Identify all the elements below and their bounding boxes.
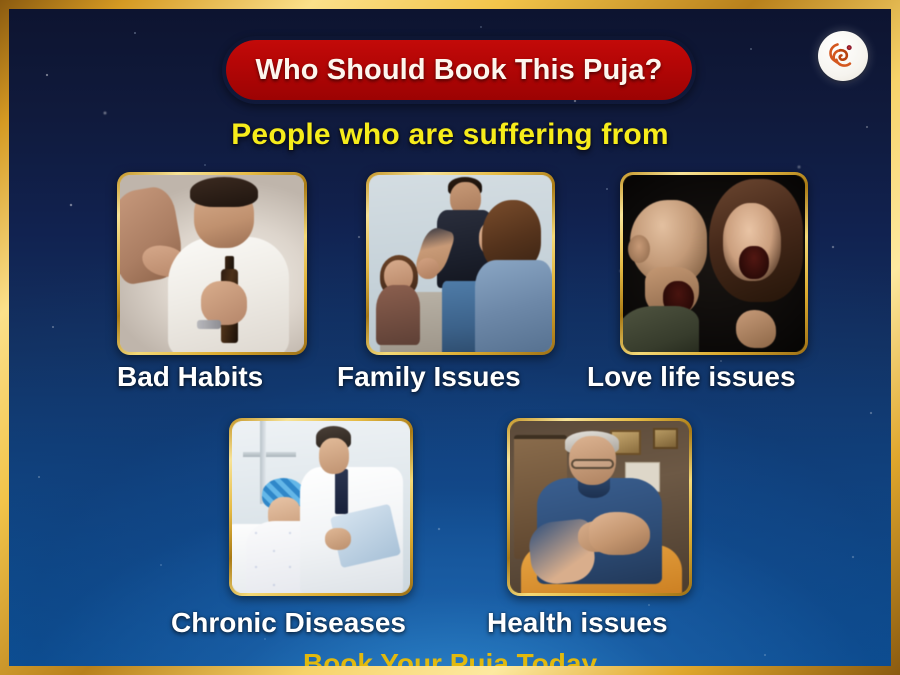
card-label-love-life-issues: Love life issues <box>587 361 796 393</box>
poster-frame: Who Should Book This Puja? People who ar… <box>0 0 900 675</box>
image-chronic-diseases <box>232 421 410 593</box>
image-family-issues <box>369 175 552 352</box>
page-title: Who Should Book This Puja? <box>256 54 663 87</box>
bottom-clipped-headline: Book Your Puja Today <box>9 648 891 666</box>
card-chronic-diseases[interactable] <box>229 418 413 596</box>
poster-background: Who Should Book This Puja? People who ar… <box>9 9 891 666</box>
ganesha-om-logo-icon[interactable] <box>818 31 868 81</box>
card-label-health-issues: Health issues <box>487 607 668 639</box>
subtitle-text: People who are suffering from <box>9 118 891 152</box>
card-health-issues[interactable] <box>507 418 692 596</box>
card-love-life-issues[interactable] <box>620 172 808 355</box>
title-banner: Who Should Book This Puja? <box>222 36 696 104</box>
card-label-family-issues: Family Issues <box>337 361 521 393</box>
image-bad-habits <box>120 175 304 352</box>
card-label-bad-habits: Bad Habits <box>117 361 263 393</box>
card-family-issues[interactable] <box>366 172 555 355</box>
image-love-life-issues <box>623 175 805 352</box>
image-health-issues <box>510 421 689 593</box>
card-bad-habits[interactable] <box>117 172 307 355</box>
card-label-chronic-diseases: Chronic Diseases <box>171 607 406 639</box>
